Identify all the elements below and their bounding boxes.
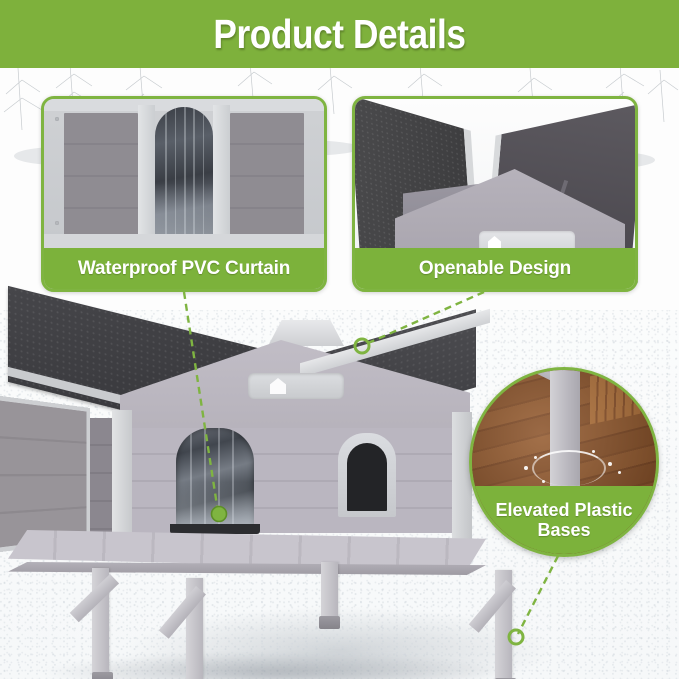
door-sill (170, 524, 260, 534)
header-banner: Product Details (0, 0, 679, 68)
dog-house-icon (248, 373, 344, 399)
infographic-canvas: Waterproof PVC Curtain Openable Design E… (0, 0, 679, 679)
feature-label-elevated-plastic-bases: Elevated Plastic Bases (472, 486, 656, 554)
pvc-curtain-closeup (155, 107, 213, 247)
feature-callout-elevated-plastic-bases[interactable]: Elevated Plastic Bases (469, 367, 659, 557)
callout-label-line1: Elevated Plastic (495, 500, 632, 520)
front-post-right (452, 412, 472, 540)
feature-label-waterproof-pvc-curtain: Waterproof PVC Curtain (44, 248, 324, 289)
feature-label-openable-design: Openable Design (355, 248, 635, 289)
side-window (338, 433, 396, 517)
front-wall (118, 428, 470, 533)
pvc-curtain-door (176, 428, 254, 528)
leg-back-right (321, 562, 338, 620)
callout-label-line2: Bases (537, 520, 590, 540)
feature-inset-openable-design[interactable]: Openable Design (352, 96, 638, 292)
page-title: Product Details (48, 0, 632, 68)
foot-back-right (319, 616, 340, 629)
feature-inset-waterproof-pvc-curtain[interactable]: Waterproof PVC Curtain (41, 96, 327, 292)
front-post-left (112, 410, 132, 545)
foot-front-left (92, 672, 113, 679)
